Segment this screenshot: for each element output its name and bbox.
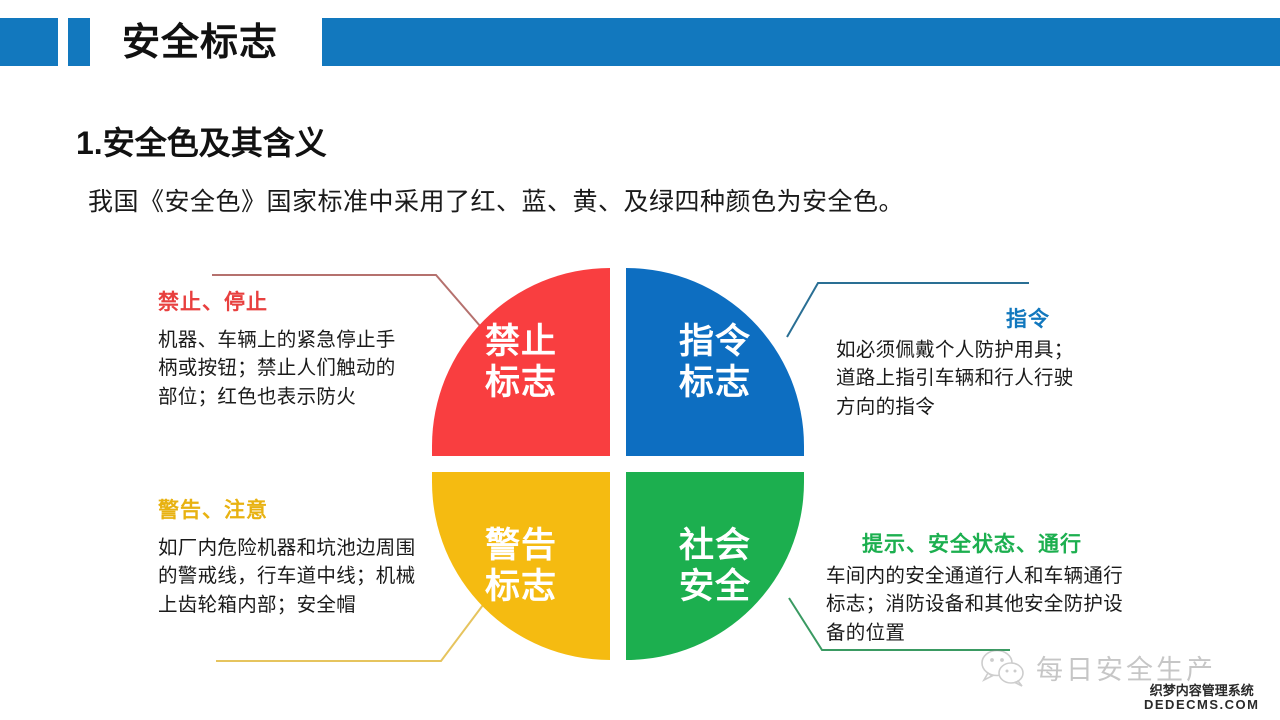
dedecms-watermark-cn: 织梦内容管理系统 [1144,684,1259,698]
header-accent-block-tick [68,18,90,66]
callout-body-instruct: 如必须佩戴个人防护用具；道路上指引车辆和行人行驶方向的指令 [836,336,1092,421]
slide-canvas: 安全标志 1.安全色及其含义 我国《安全色》国家标准中采用了红、蓝、黄、及绿四种… [0,0,1280,720]
callout-body-social: 车间内的安全通道行人和车辆通行标志；消防设备和其他安全防护设备的位置 [826,562,1126,647]
dedecms-watermark: 织梦内容管理系统 DEDECMS.COM [1144,684,1259,711]
section-heading: 1.安全色及其含义 [76,118,327,164]
header-accent-block-left [0,18,58,66]
wheel-quadrant-prohibit[interactable]: 禁止 标志 [432,268,610,456]
section-body-text: 我国《安全色》国家标准中采用了红、蓝、黄、及绿四种颜色为安全色。 [88,182,904,218]
quadrant-instruct-line1: 指令 [679,321,751,362]
callout-title-prohibit: 禁止、停止 [158,286,268,316]
connector-instruct [787,283,1029,337]
quadrant-social-line1: 社会 [679,525,751,566]
wechat-icon [980,649,1026,687]
quadrant-prohibit-line1: 禁止 [485,321,557,362]
dedecms-watermark-en: DEDECMS.COM [1144,698,1259,712]
quadrant-instruct-line2: 标志 [679,362,751,403]
quadrant-prohibit-line2: 标志 [485,362,557,403]
callout-body-warning: 如厂内危险机器和坑池边周围的警戒线，行车道中线；机械上齿轮箱内部；安全帽 [158,534,420,619]
quadrant-warning-line2: 标志 [485,566,557,607]
callout-title-social: 提示、安全状态、通行 [862,528,1082,558]
callout-body-prohibit: 机器、车辆上的紧急停止手柄或按钮；禁止人们触动的部位；红色也表示防火 [158,326,398,411]
callout-title-instruct: 指令 [1006,303,1050,333]
watermark: 每日安全生产 [980,648,1216,687]
watermark-account-name: 每日安全生产 [1036,648,1216,687]
quadrant-warning-line1: 警告 [485,525,557,566]
page-title: 安全标志 [122,12,322,74]
safety-color-wheel: 禁止 标志 指令 标志 警告 标志 社会 安全 [432,268,804,660]
header-accent-block-right [318,18,1280,66]
callout-title-warning: 警告、注意 [158,494,268,524]
wheel-quadrant-instruct[interactable]: 指令 标志 [626,268,804,456]
wheel-quadrant-warning[interactable]: 警告 标志 [432,472,610,660]
wheel-quadrant-social[interactable]: 社会 安全 [626,472,804,660]
quadrant-social-line2: 安全 [679,566,751,607]
